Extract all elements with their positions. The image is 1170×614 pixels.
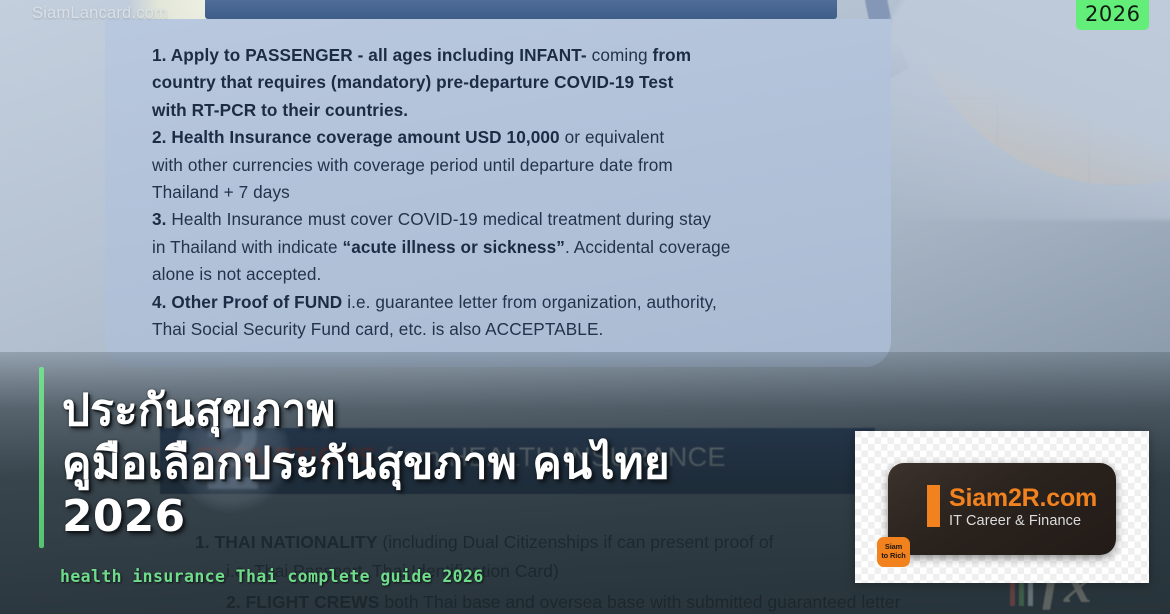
year-badge: 2026 <box>1076 0 1149 30</box>
page-title: ประกันสุขภาพ คูมือเลือกประกันสุขภาพ คนไท… <box>62 384 862 543</box>
doc-line-2: country that requires (mandatory) pre-de… <box>152 69 872 96</box>
title-line-1: ประกันสุขภาพ <box>62 384 862 437</box>
document-top-band <box>205 0 837 19</box>
doc-line-8: in Thailand with indicate “acute illness… <box>152 234 872 261</box>
site-watermark: SiamLancard.com <box>32 4 168 23</box>
logo-card[interactable]: Siam2R.com IT Career & Finance Siam to R… <box>855 431 1149 583</box>
doc-line-9: alone is not accepted. <box>152 261 872 288</box>
logo-tagline: IT Career & Finance <box>949 512 1097 530</box>
doc-line-4: 2. Health Insurance coverage amount USD … <box>152 124 872 151</box>
page-subtitle: health insurance Thai complete guide 202… <box>60 567 484 586</box>
title-line-3: 2026 <box>62 490 862 543</box>
badge-line-1: Siam <box>877 542 910 551</box>
document-requirements-text: 1. Apply to PASSENGER - all ages includi… <box>152 42 872 343</box>
poster-canvas: 1. Apply to PASSENGER - all ages includi… <box>0 0 1170 614</box>
doc-line-6: Thailand + 7 days <box>152 179 872 206</box>
title-line-2: คูมือเลือกประกันสุขภาพ คนไทย <box>62 437 862 490</box>
logo-bar-icon <box>927 485 940 527</box>
siam-to-rich-badge: Siam to Rich <box>877 537 910 567</box>
logo-plate: Siam2R.com IT Career & Finance <box>888 463 1116 555</box>
pale-wedge-decoration <box>870 0 1170 220</box>
logo-text-group: Siam2R.com IT Career & Finance <box>949 485 1097 530</box>
doc-line-7: 3. Health Insurance must cover COVID-19 … <box>152 206 872 233</box>
green-accent-bar <box>39 367 44 548</box>
doc-line-5: with other currencies with coverage peri… <box>152 152 872 179</box>
badge-line-2: to Rich <box>877 551 910 560</box>
logo-lockup: Siam2R.com IT Career & Finance <box>927 485 1097 530</box>
doc-line-10: 4. Other Proof of FUND i.e. guarantee le… <box>152 289 872 316</box>
doc-line-11: Thai Social Security Fund card, etc. is … <box>152 316 872 343</box>
logo-brand-name: Siam2R.com <box>949 485 1097 512</box>
color-bars-icon <box>1010 580 1036 606</box>
doc-line-3: with RT-PCR to their countries. <box>152 97 872 124</box>
doc-line-1: 1. Apply to PASSENGER - all ages includi… <box>152 42 872 69</box>
